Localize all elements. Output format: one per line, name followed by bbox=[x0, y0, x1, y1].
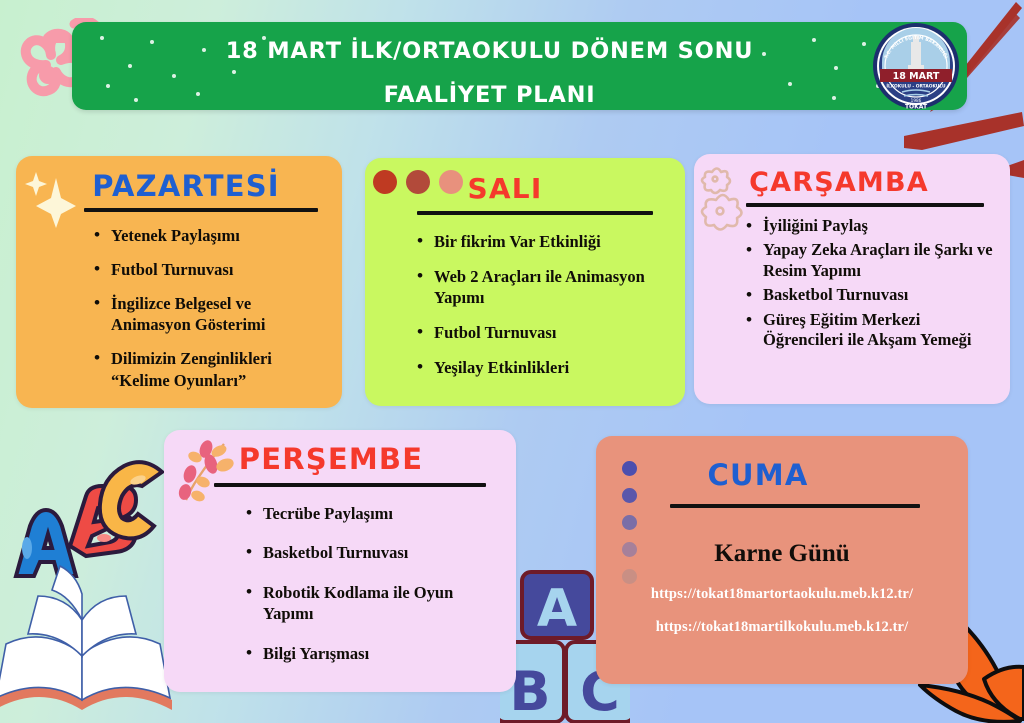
list-item: Yeşilay Etkinlikleri bbox=[417, 357, 669, 378]
day-title-pazartesi: PAZARTESİ bbox=[30, 169, 342, 203]
day-card-cuma: CUMA Karne Günü https://tokat18martortao… bbox=[596, 436, 968, 684]
activity-list-carsamba: İyiliğini Paylaş Yapay Zeka Araçları ile… bbox=[746, 216, 998, 351]
school-logo: T.C. MİLLİ EĞİTİM BAKANLIĞI 18 MART İLKO… bbox=[872, 22, 960, 110]
list-item: Güreş Eğitim Merkezi Öğrencileri ile Akş… bbox=[746, 310, 998, 351]
day-title-cuma: CUMA bbox=[596, 458, 920, 492]
list-item: Tecrübe Paylaşımı bbox=[246, 503, 500, 524]
list-item: Bilgi Yarışması bbox=[246, 643, 500, 664]
header-banner: 18 MART İLK/ORTAOKULU DÖNEM SONU FAALİYE… bbox=[72, 22, 967, 110]
title-underline bbox=[214, 483, 486, 487]
dot-column-icon bbox=[622, 461, 640, 585]
header-line-1: 18 MART İLK/ORTAOKULU DÖNEM SONU bbox=[226, 38, 754, 64]
day-card-carsamba: ÇARŞAMBA İyiliğini Paylaş Yapay Zeka Ara… bbox=[694, 154, 1010, 404]
title-underline bbox=[670, 504, 920, 508]
svg-text:A: A bbox=[537, 579, 577, 639]
list-item: Yapay Zeka Araçları ile Şarkı ve Resim Y… bbox=[746, 240, 998, 281]
page-title: 18 MART İLK/ORTAOKULU DÖNEM SONU FAALİYE… bbox=[72, 22, 967, 118]
open-book-decoration bbox=[0, 560, 180, 723]
activity-list-sali: Bir fikrim Var Etkinliği Web 2 Araçları … bbox=[417, 231, 669, 379]
list-item: Dilimizin Zenginlikleri “Kelime Oyunları… bbox=[94, 348, 326, 390]
cuma-highlight-text: Karne Günü bbox=[638, 540, 926, 568]
activity-list-pazartesi: Yetenek Paylaşımı Futbol Turnuvası İngil… bbox=[94, 225, 326, 391]
day-title-carsamba: ÇARŞAMBA bbox=[694, 167, 984, 198]
list-item: Basketbol Turnuvası bbox=[246, 542, 500, 563]
day-title-persembe: PERŞEMBE bbox=[164, 442, 498, 476]
logo-city: TOKAT bbox=[905, 104, 928, 111]
list-item: Futbol Turnuvası bbox=[94, 259, 326, 280]
logo-subname: İLKOKULU - ORTAOKULU bbox=[886, 83, 946, 90]
title-underline bbox=[746, 203, 984, 207]
logo-name: 18 MART bbox=[893, 71, 940, 82]
day-card-pazartesi: PAZARTESİ Yetenek Paylaşımı Futbol Turnu… bbox=[16, 156, 342, 408]
title-underline bbox=[84, 208, 318, 212]
title-underline bbox=[417, 211, 653, 215]
list-item: Robotik Kodlama ile Oyun Yapımı bbox=[246, 582, 500, 625]
list-item: İyiliğini Paylaş bbox=[746, 216, 998, 236]
list-item: Web 2 Araçları ile Animasyon Yapımı bbox=[417, 266, 669, 308]
three-circles-icon bbox=[373, 170, 465, 196]
list-item: Bir fikrim Var Etkinliği bbox=[417, 231, 669, 252]
day-card-persembe: PERŞEMBE Tecrübe Paylaşımı Basketbol Tur… bbox=[164, 430, 516, 692]
list-item: Futbol Turnuvası bbox=[417, 322, 669, 343]
abc-letters-decoration bbox=[0, 448, 174, 588]
header-line-2: FAALİYET PLANI bbox=[72, 74, 907, 118]
logo-year: 1986 bbox=[911, 98, 922, 103]
list-item: İngilizce Belgesel ve Animasyon Gösterim… bbox=[94, 293, 326, 335]
list-item: Yetenek Paylaşımı bbox=[94, 225, 326, 246]
school-website-link-1[interactable]: https://tokat18martortaokulu.meb.k12.tr/ bbox=[596, 586, 968, 603]
list-item: Basketbol Turnuvası bbox=[746, 285, 998, 305]
school-website-link-2[interactable]: https://tokat18martilkokulu.meb.k12.tr/ bbox=[596, 619, 968, 636]
activity-list-persembe: Tecrübe Paylaşımı Basketbol Turnuvası Ro… bbox=[246, 503, 500, 664]
